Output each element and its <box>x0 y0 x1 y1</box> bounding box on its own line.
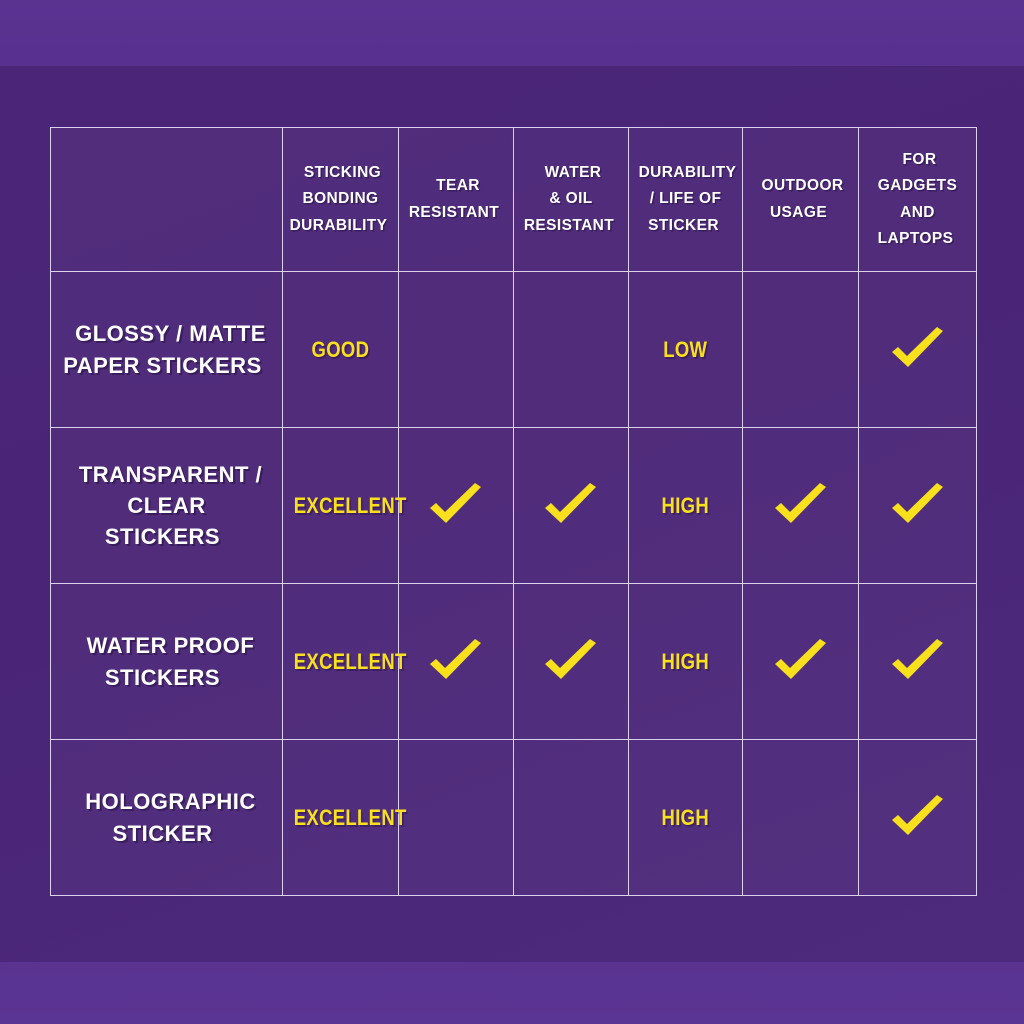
table-body: GLOSSY / MATTE PAPER STICKERS GOOD LOW <box>51 272 977 896</box>
row-header-label: WATER PROOF STICKERS <box>79 633 255 689</box>
column-header-water-oil-resistant: WATER & OIL RESISTANT <box>514 128 629 272</box>
table-row: HOLOGRAPHIC STICKER EXCELLENT HIGH <box>51 740 977 896</box>
check-icon <box>426 482 486 530</box>
column-header-label: TEAR RESISTANT <box>409 177 503 220</box>
cell-transparent-gadgets <box>859 428 977 584</box>
column-header-sticking-bonding-durability: STICKING BONDING DURABILITY <box>283 128 399 272</box>
row-header-transparent-clear-stickers: TRANSPARENT / CLEAR STICKERS <box>51 428 283 584</box>
check-icon <box>771 482 831 530</box>
cell-transparent-tear <box>399 428 514 584</box>
row-header-glossy-matte-paper-stickers: GLOSSY / MATTE PAPER STICKERS <box>51 272 283 428</box>
column-header-label: STICKING BONDING DURABILITY <box>290 164 392 233</box>
cell-glossy-durability: LOW <box>629 272 743 428</box>
cell-waterproof-durability: HIGH <box>629 584 743 740</box>
sticker-comparison-table: STICKING BONDING DURABILITY TEAR RESISTA… <box>50 127 977 896</box>
rating-value: EXCELLENT <box>294 649 407 675</box>
cell-waterproof-gadgets <box>859 584 977 740</box>
cell-glossy-outdoor <box>743 272 859 428</box>
check-icon <box>888 794 948 842</box>
rating-value: HIGH <box>662 649 710 675</box>
row-header-label: TRANSPARENT / CLEAR STICKERS <box>71 462 262 549</box>
cell-glossy-water-oil <box>514 272 629 428</box>
cell-holographic-tear <box>399 740 514 896</box>
comparison-infographic: STICKING BONDING DURABILITY TEAR RESISTA… <box>0 0 1024 1024</box>
table-row: WATER PROOF STICKERS EXCELLENT <box>51 584 977 740</box>
table-corner-cell <box>51 128 283 272</box>
cell-holographic-gadgets <box>859 740 977 896</box>
cell-waterproof-water-oil <box>514 584 629 740</box>
rating-value: EXCELLENT <box>294 805 407 831</box>
cell-holographic-sticking: EXCELLENT <box>283 740 399 896</box>
column-header-durability-life-of-sticker: DURABILITY / LIFE OF STICKER <box>629 128 743 272</box>
rating-value: EXCELLENT <box>294 493 407 519</box>
rating-value: HIGH <box>662 493 710 519</box>
rating-value: GOOD <box>312 337 370 363</box>
cell-waterproof-outdoor <box>743 584 859 740</box>
cell-glossy-tear <box>399 272 514 428</box>
cell-transparent-outdoor <box>743 428 859 584</box>
table-header: STICKING BONDING DURABILITY TEAR RESISTA… <box>51 128 977 272</box>
check-icon <box>888 482 948 530</box>
column-header-label: DURABILITY / LIFE OF STICKER <box>635 164 737 233</box>
cell-waterproof-tear <box>399 584 514 740</box>
row-header-label: GLOSSY / MATTE PAPER STICKERS <box>63 321 270 377</box>
check-icon <box>541 638 601 686</box>
check-icon <box>888 638 948 686</box>
column-header-label: OUTDOOR USAGE <box>757 177 843 220</box>
cell-glossy-gadgets <box>859 272 977 428</box>
check-icon <box>888 326 948 374</box>
cell-transparent-water-oil <box>514 428 629 584</box>
cell-holographic-durability: HIGH <box>629 740 743 896</box>
cell-holographic-outdoor <box>743 740 859 896</box>
bottom-accent-band <box>0 962 1024 1024</box>
column-header-label: FOR GADGETS AND LAPTOPS <box>878 151 958 246</box>
top-accent-band <box>0 0 1024 66</box>
row-header-holographic-sticker: HOLOGRAPHIC STICKER <box>51 740 283 896</box>
column-header-outdoor-usage: OUTDOOR USAGE <box>743 128 859 272</box>
column-header-tear-resistant: TEAR RESISTANT <box>399 128 514 272</box>
check-icon <box>771 638 831 686</box>
cell-waterproof-sticking: EXCELLENT <box>283 584 399 740</box>
column-header-for-gadgets-and-laptops: FOR GADGETS AND LAPTOPS <box>859 128 977 272</box>
cell-transparent-durability: HIGH <box>629 428 743 584</box>
row-header-label: HOLOGRAPHIC STICKER <box>77 789 256 845</box>
column-header-label: WATER & OIL RESISTANT <box>524 164 618 233</box>
check-icon <box>541 482 601 530</box>
rating-value: HIGH <box>662 805 710 831</box>
cell-glossy-sticking: GOOD <box>283 272 399 428</box>
rating-value: LOW <box>663 337 707 363</box>
sticker-comparison-table-wrapper: STICKING BONDING DURABILITY TEAR RESISTA… <box>50 127 976 896</box>
cell-transparent-sticking: EXCELLENT <box>283 428 399 584</box>
row-header-water-proof-stickers: WATER PROOF STICKERS <box>51 584 283 740</box>
check-icon <box>426 638 486 686</box>
table-header-row: STICKING BONDING DURABILITY TEAR RESISTA… <box>51 128 977 272</box>
table-row: GLOSSY / MATTE PAPER STICKERS GOOD LOW <box>51 272 977 428</box>
table-row: TRANSPARENT / CLEAR STICKERS EXCELLENT <box>51 428 977 584</box>
cell-holographic-water-oil <box>514 740 629 896</box>
